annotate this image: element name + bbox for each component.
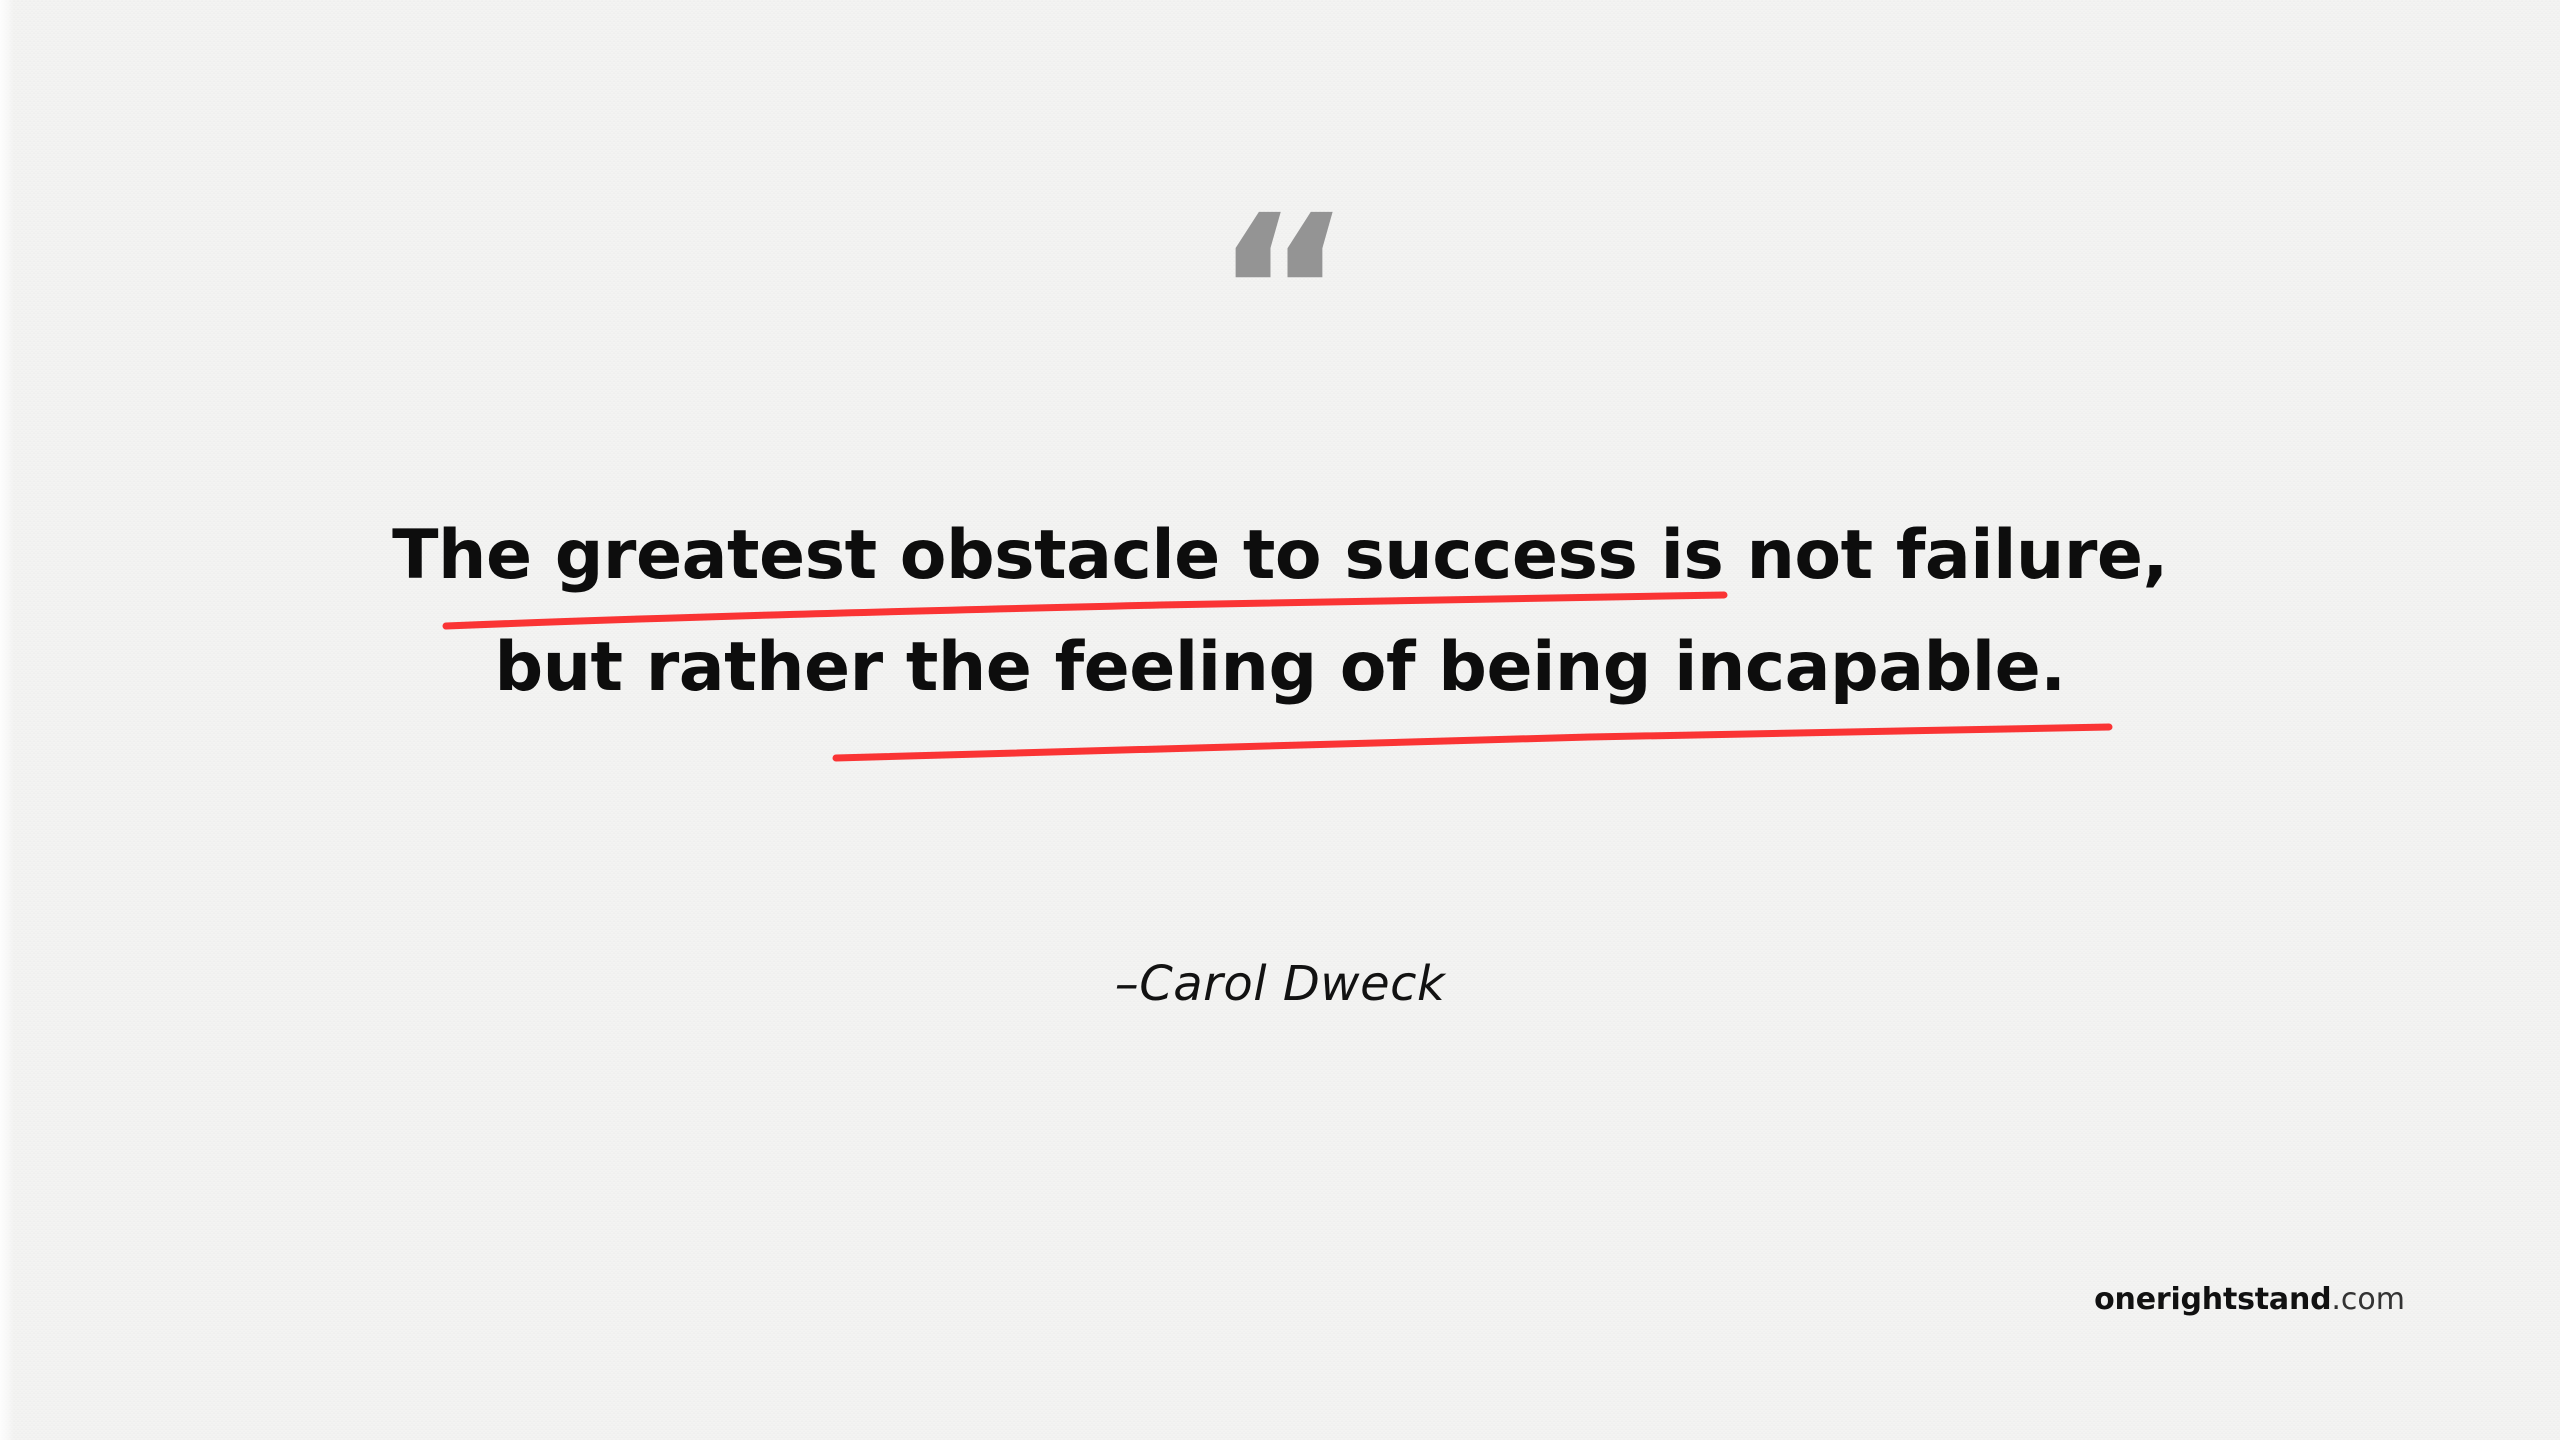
quote-line-2: but rather the feeling of being incapabl…	[0, 612, 2560, 724]
quote-text-block: The greatest obstacle to success is not …	[0, 500, 2560, 724]
quote-line-1: The greatest obstacle to success is not …	[0, 500, 2560, 612]
watermark-brand: onerightstand	[2094, 1282, 2331, 1317]
quote-card: “ The greatest obstacle to success is no…	[0, 0, 2560, 1440]
red-underline-line-2	[830, 718, 2115, 768]
watermark-tld: .com	[2331, 1282, 2405, 1317]
site-watermark: onerightstand.com	[2094, 1282, 2405, 1318]
quote-attribution: –Carol Dweck	[0, 953, 2560, 1015]
quotation-mark-icon: “	[0, 188, 2560, 398]
